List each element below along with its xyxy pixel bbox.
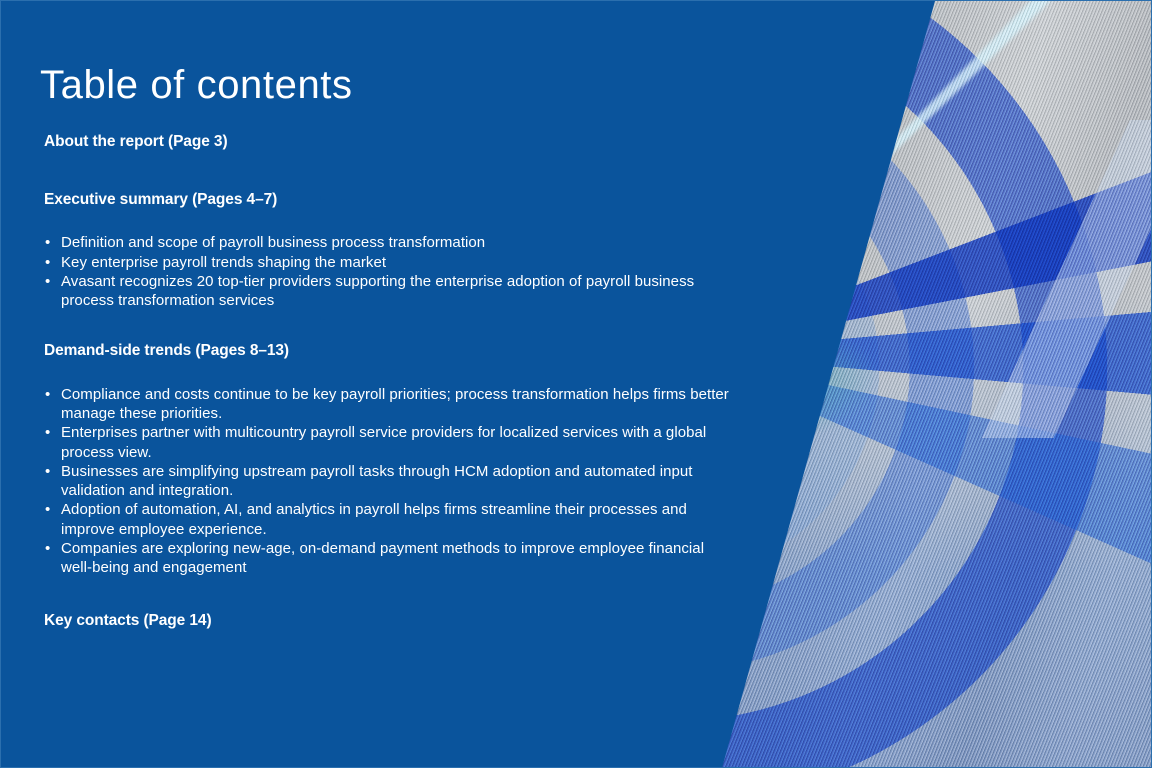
bullet-icon: • [45, 272, 50, 291]
bullet-icon: • [45, 423, 50, 442]
slide-canvas: Table of contents About the report (Page… [0, 0, 1152, 768]
list-item: • Definition and scope of payroll busine… [44, 233, 734, 252]
bullet-icon: • [45, 539, 50, 558]
list-item-text: Businesses are simplifying upstream payr… [61, 463, 693, 499]
list-item-text: Adoption of automation, AI, and analytic… [61, 501, 687, 537]
decorative-artwork [722, 0, 1152, 768]
artwork-edge-shadow [722, 0, 1152, 768]
bullet-icon: • [45, 253, 50, 272]
section-heading-demand-side-trends[interactable]: Demand-side trends (Pages 8–13) [44, 341, 734, 361]
section-heading-about-the-report[interactable]: About the report (Page 3) [44, 132, 734, 152]
list-item-text: Companies are exploring new-age, on-dema… [61, 540, 704, 576]
page-title: Table of contents [40, 63, 353, 107]
bullet-icon: • [45, 233, 50, 252]
bullet-icon: • [45, 462, 50, 481]
list-item: • Businesses are simplifying upstream pa… [44, 462, 734, 501]
bullet-list-demand-side-trends: • Compliance and costs continue to be ke… [44, 385, 734, 578]
table-of-contents: About the report (Page 3) Executive summ… [44, 132, 734, 631]
list-item: • Key enterprise payroll trends shaping … [44, 253, 734, 272]
list-item-text: Enterprises partner with multicountry pa… [61, 424, 706, 460]
toc-section-executive-summary: Executive summary (Pages 4–7) • Definiti… [44, 190, 734, 310]
list-item: • Compliance and costs continue to be ke… [44, 385, 734, 424]
list-item-text: Compliance and costs continue to be key … [61, 386, 729, 422]
toc-section-demand-side-trends: Demand-side trends (Pages 8–13) • Compli… [44, 341, 734, 577]
content-panel: Table of contents About the report (Page… [0, 0, 740, 768]
bullet-icon: • [45, 500, 50, 519]
list-item: • Avasant recognizes 20 top-tier provide… [44, 272, 734, 311]
list-item: • Adoption of automation, AI, and analyt… [44, 500, 734, 539]
list-item-text: Definition and scope of payroll business… [61, 234, 485, 251]
list-item: • Companies are exploring new-age, on-de… [44, 539, 734, 578]
toc-section-about-the-report: About the report (Page 3) [44, 132, 734, 152]
toc-section-key-contacts: Key contacts (Page 14) [44, 611, 734, 631]
bullet-list-executive-summary: • Definition and scope of payroll busine… [44, 233, 734, 310]
section-heading-key-contacts[interactable]: Key contacts (Page 14) [44, 611, 734, 631]
list-item: • Enterprises partner with multicountry … [44, 423, 734, 462]
section-heading-executive-summary[interactable]: Executive summary (Pages 4–7) [44, 190, 734, 210]
list-item-text: Key enterprise payroll trends shaping th… [61, 254, 386, 271]
bullet-icon: • [45, 385, 50, 404]
list-item-text: Avasant recognizes 20 top-tier providers… [61, 273, 694, 309]
